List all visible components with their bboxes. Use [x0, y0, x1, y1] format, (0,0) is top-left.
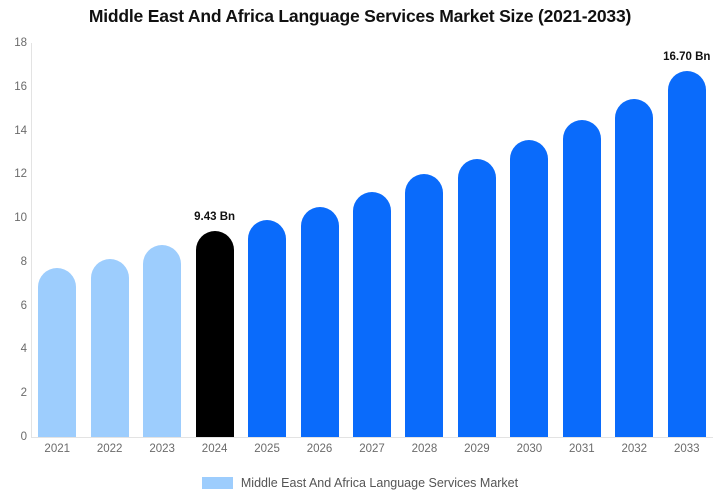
bar-2022[interactable] — [91, 259, 129, 437]
legend-swatch-icon — [202, 477, 233, 489]
x-axis-tick-label: 2022 — [83, 443, 135, 455]
y-axis-tick-label: 2 — [3, 387, 27, 399]
bar-group — [563, 43, 601, 437]
x-axis-tick-label: 2032 — [608, 443, 660, 455]
y-axis-tick-label: 8 — [3, 256, 27, 268]
bar-2026[interactable] — [301, 207, 339, 437]
bar-2032[interactable] — [615, 99, 653, 437]
bar-group — [458, 43, 496, 437]
y-axis-tick-label: 4 — [3, 343, 27, 355]
chart-container: Middle East And Africa Language Services… — [0, 0, 720, 500]
bar-2030[interactable] — [510, 140, 548, 437]
y-axis-tick-label: 10 — [3, 212, 27, 224]
x-axis-tick-label: 2025 — [241, 443, 293, 455]
y-axis-tick-label: 0 — [3, 431, 27, 443]
y-axis-tick-label: 14 — [3, 125, 27, 137]
chart-legend: Middle East And Africa Language Services… — [0, 476, 720, 490]
bar-2023[interactable] — [143, 245, 181, 437]
bar-group — [91, 43, 129, 437]
x-axis-tick-label: 2033 — [661, 443, 713, 455]
y-axis-tick-label: 18 — [3, 37, 27, 49]
bar-group — [510, 43, 548, 437]
x-axis-line — [31, 437, 713, 438]
x-axis-tick-label: 2026 — [293, 443, 345, 455]
bar-group — [38, 43, 76, 437]
legend-item-label: Middle East And Africa Language Services… — [241, 476, 518, 490]
x-axis-tick-label: 2029 — [451, 443, 503, 455]
bar-group — [143, 43, 181, 437]
bar-group — [301, 43, 339, 437]
bar-value-label-2024: 9.43 Bn — [194, 211, 235, 223]
bar-value-label-2033: 16.70 Bn — [663, 51, 710, 63]
x-axis-tick-label: 2031 — [556, 443, 608, 455]
bar-group — [353, 43, 391, 437]
bar-2028[interactable] — [405, 174, 443, 437]
x-axis-tick-label: 2028 — [398, 443, 450, 455]
chart-title: Middle East And Africa Language Services… — [0, 6, 720, 27]
x-axis-tick-label: 2030 — [503, 443, 555, 455]
bar-2021[interactable] — [38, 268, 76, 437]
x-axis-tick-label: 2023 — [136, 443, 188, 455]
plot-area: 9.43 Bn16.70 Bn — [31, 43, 713, 437]
bar-group — [248, 43, 286, 437]
bar-2033[interactable] — [668, 71, 706, 437]
bar-2027[interactable] — [353, 192, 391, 437]
bar-group — [405, 43, 443, 437]
bar-2029[interactable] — [458, 159, 496, 437]
bar-group: 16.70 Bn — [668, 43, 706, 437]
y-axis-tick-label: 6 — [3, 300, 27, 312]
bar-2025[interactable] — [248, 220, 286, 437]
x-axis-tick-label: 2027 — [346, 443, 398, 455]
y-axis-tick-label: 16 — [3, 81, 27, 93]
bar-2031[interactable] — [563, 120, 601, 437]
x-axis-tick-label: 2021 — [31, 443, 83, 455]
bar-group — [615, 43, 653, 437]
bar-group: 9.43 Bn — [196, 43, 234, 437]
legend-item[interactable]: Middle East And Africa Language Services… — [202, 476, 518, 490]
bar-2024[interactable] — [196, 231, 234, 437]
y-axis-tick-label: 12 — [3, 168, 27, 180]
x-axis-tick-label: 2024 — [188, 443, 240, 455]
y-axis-tick-labels: 024681012141618 — [0, 0, 27, 500]
